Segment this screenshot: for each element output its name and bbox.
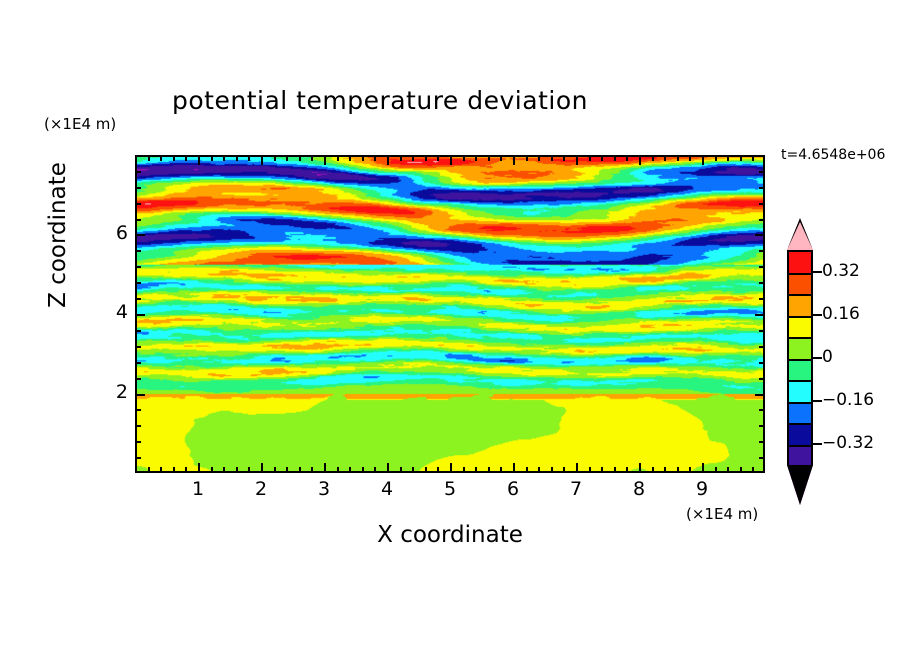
y-minor-tick <box>136 266 141 268</box>
x-minor-tick-top <box>437 156 439 161</box>
colorbar-band <box>789 317 811 339</box>
y-tick-label: 6 <box>94 222 128 244</box>
x-minor-tick <box>400 467 402 472</box>
x-minor-tick-top <box>677 156 679 161</box>
y-minor-tick-right <box>759 171 764 173</box>
y-major-tick <box>136 314 145 316</box>
x-major-tick-top <box>450 156 452 165</box>
y-minor-tick <box>136 250 141 252</box>
x-major-tick-top <box>198 156 200 165</box>
x-minor-tick-top <box>752 156 754 161</box>
colorbar-tick-label: −0.16 <box>822 390 874 410</box>
x-tick-label: 7 <box>556 478 596 500</box>
x-minor-tick <box>715 467 717 472</box>
y-minor-tick <box>136 378 141 380</box>
colorbar-separator <box>789 445 811 447</box>
x-minor-tick-top <box>689 156 691 161</box>
y-minor-tick <box>136 298 141 300</box>
x-minor-tick <box>601 467 603 472</box>
x-minor-tick <box>248 467 250 472</box>
colorbar-separator <box>789 337 811 339</box>
x-major-tick <box>198 463 200 472</box>
x-minor-tick <box>311 467 313 472</box>
x-major-tick <box>324 463 326 472</box>
y-major-tick-right <box>755 314 764 316</box>
x-minor-tick-top <box>374 156 376 161</box>
x-minor-tick <box>488 467 490 472</box>
x-major-tick-top <box>702 156 704 165</box>
y-minor-tick-right <box>759 425 764 427</box>
colorbar-under-cap <box>787 465 813 505</box>
x-minor-tick-top <box>148 156 150 161</box>
colorbar-band <box>789 274 811 296</box>
x-minor-tick-top <box>740 156 742 161</box>
x-minor-tick-top <box>614 156 616 161</box>
colorbar-band <box>789 424 811 446</box>
y-minor-tick-right <box>759 362 764 364</box>
y-major-tick-right <box>755 234 764 236</box>
x-minor-tick <box>374 467 376 472</box>
colorbar-tick-label: −0.32 <box>822 433 874 453</box>
figure-canvas: potential temperature deviation (×1E4 m)… <box>0 0 904 654</box>
colorbar-tick <box>813 400 822 402</box>
x-minor-tick-top <box>664 156 666 161</box>
x-tick-label: 8 <box>619 478 659 500</box>
colorbar-separator <box>789 402 811 404</box>
y-minor-tick <box>136 409 141 411</box>
x-major-tick <box>261 463 263 472</box>
x-minor-tick <box>236 467 238 472</box>
x-minor-tick-top <box>211 156 213 161</box>
y-minor-tick <box>136 187 141 189</box>
x-minor-tick <box>689 467 691 472</box>
x-minor-tick-top <box>538 156 540 161</box>
y-minor-tick <box>136 203 141 205</box>
colorbar-tick <box>813 314 822 316</box>
y-minor-tick-right <box>759 441 764 443</box>
x-minor-tick <box>173 467 175 472</box>
colorbar-separator <box>789 273 811 275</box>
x-minor-tick <box>538 467 540 472</box>
x-minor-tick <box>148 467 150 472</box>
x-minor-tick <box>223 467 225 472</box>
x-minor-tick-top <box>589 156 591 161</box>
y-minor-tick <box>136 282 141 284</box>
colorbar-tick-label: 0.32 <box>822 261 860 281</box>
colorbar-tick-label: 0 <box>822 347 833 367</box>
y-minor-tick-right <box>759 250 764 252</box>
colorbar-band <box>789 338 811 360</box>
x-minor-tick <box>475 467 477 472</box>
colorbar-band <box>789 295 811 317</box>
x-minor-tick <box>626 467 628 472</box>
x-minor-tick <box>425 467 427 472</box>
y-minor-tick-right <box>759 298 764 300</box>
x-axis-title: X coordinate <box>135 522 765 548</box>
scalar-field-render <box>137 157 763 471</box>
x-minor-tick <box>362 467 364 472</box>
x-minor-tick <box>589 467 591 472</box>
x-tick-label: 3 <box>304 478 344 500</box>
x-major-tick-top <box>387 156 389 165</box>
x-major-tick-top <box>261 156 263 165</box>
x-minor-tick-top <box>400 156 402 161</box>
colorbar-band <box>789 381 811 403</box>
x-tick-label: 1 <box>178 478 218 500</box>
y-minor-tick-right <box>759 187 764 189</box>
x-minor-tick-top <box>551 156 553 161</box>
y-major-tick <box>136 234 145 236</box>
x-minor-tick-top <box>526 156 528 161</box>
y-axis-units-label: (×1E4 m) <box>44 115 116 133</box>
x-minor-tick-top <box>299 156 301 161</box>
timestamp-label: t=4.6548e+06 <box>781 147 885 163</box>
y-minor-tick-right <box>759 378 764 380</box>
colorbar-separator <box>789 423 811 425</box>
y-tick-label: 2 <box>94 381 128 403</box>
y-major-tick <box>136 394 145 396</box>
x-minor-tick <box>299 467 301 472</box>
x-tick-label: 5 <box>430 478 470 500</box>
y-minor-tick-right <box>759 203 764 205</box>
x-minor-tick-top <box>500 156 502 161</box>
x-major-tick <box>639 463 641 472</box>
x-tick-label: 4 <box>367 478 407 500</box>
x-minor-tick <box>160 467 162 472</box>
x-minor-tick <box>349 467 351 472</box>
x-minor-tick-top <box>715 156 717 161</box>
x-minor-tick-top <box>488 156 490 161</box>
colorbar-separator <box>789 359 811 361</box>
y-minor-tick <box>136 425 141 427</box>
x-axis-units-label: (×1E4 m) <box>686 505 758 523</box>
colorbar-tick <box>813 357 822 359</box>
x-minor-tick <box>412 467 414 472</box>
colorbar-band <box>789 252 811 274</box>
x-minor-tick <box>677 467 679 472</box>
x-minor-tick-top <box>236 156 238 161</box>
x-major-tick <box>387 463 389 472</box>
x-minor-tick-top <box>601 156 603 161</box>
colorbar-tick <box>813 443 822 445</box>
x-minor-tick <box>551 467 553 472</box>
x-minor-tick-top <box>412 156 414 161</box>
colorbar-band <box>789 360 811 382</box>
x-minor-tick <box>614 467 616 472</box>
x-major-tick-top <box>639 156 641 165</box>
x-major-tick-top <box>324 156 326 165</box>
y-minor-tick <box>136 219 141 221</box>
x-minor-tick-top <box>311 156 313 161</box>
y-major-tick-right <box>755 394 764 396</box>
x-tick-label: 6 <box>493 478 533 500</box>
x-minor-tick <box>286 467 288 472</box>
x-major-tick <box>450 463 452 472</box>
x-minor-tick-top <box>463 156 465 161</box>
x-minor-tick-top <box>274 156 276 161</box>
x-minor-tick <box>437 467 439 472</box>
x-minor-tick <box>664 467 666 472</box>
colorbar-band <box>789 446 811 468</box>
x-minor-tick <box>526 467 528 472</box>
y-minor-tick-right <box>759 409 764 411</box>
x-tick-label: 9 <box>682 478 722 500</box>
x-minor-tick <box>185 467 187 472</box>
x-minor-tick <box>337 467 339 472</box>
x-minor-tick <box>740 467 742 472</box>
x-minor-tick-top <box>223 156 225 161</box>
y-minor-tick <box>136 457 141 459</box>
x-minor-tick-top <box>475 156 477 161</box>
x-major-tick <box>702 463 704 472</box>
x-major-tick <box>513 463 515 472</box>
x-minor-tick <box>727 467 729 472</box>
x-major-tick <box>576 463 578 472</box>
y-minor-tick-right <box>759 282 764 284</box>
colorbar-tick <box>813 271 822 273</box>
colorbar-band <box>789 403 811 425</box>
y-minor-tick-right <box>759 219 764 221</box>
x-minor-tick-top <box>160 156 162 161</box>
x-minor-tick-top <box>248 156 250 161</box>
colorbar-separator <box>789 294 811 296</box>
x-minor-tick-top <box>286 156 288 161</box>
y-minor-tick <box>136 346 141 348</box>
x-minor-tick-top <box>727 156 729 161</box>
y-minor-tick-right <box>759 457 764 459</box>
y-axis-title: Z coordinate <box>45 155 71 315</box>
x-minor-tick <box>752 467 754 472</box>
x-minor-tick-top <box>626 156 628 161</box>
colorbar <box>787 250 813 465</box>
y-minor-tick-right <box>759 330 764 332</box>
y-minor-tick-right <box>759 346 764 348</box>
x-tick-label: 2 <box>241 478 281 500</box>
x-minor-tick-top <box>349 156 351 161</box>
x-minor-tick-top <box>652 156 654 161</box>
chart-title: potential temperature deviation <box>0 86 760 115</box>
colorbar-tick-label: 0.16 <box>822 304 860 324</box>
x-minor-tick <box>563 467 565 472</box>
x-minor-tick-top <box>173 156 175 161</box>
x-minor-tick-top <box>362 156 364 161</box>
x-minor-tick-top <box>337 156 339 161</box>
y-minor-tick-right <box>759 266 764 268</box>
x-minor-tick <box>463 467 465 472</box>
y-minor-tick <box>136 171 141 173</box>
x-minor-tick-top <box>563 156 565 161</box>
colorbar-over-cap <box>787 218 813 250</box>
x-minor-tick <box>211 467 213 472</box>
y-minor-tick <box>136 330 141 332</box>
y-minor-tick <box>136 362 141 364</box>
x-minor-tick <box>274 467 276 472</box>
x-minor-tick-top <box>425 156 427 161</box>
colorbar-separator <box>789 316 811 318</box>
y-minor-tick <box>136 441 141 443</box>
x-minor-tick <box>500 467 502 472</box>
y-tick-label: 4 <box>94 301 128 323</box>
contour-plot-area <box>135 155 765 473</box>
x-major-tick-top <box>513 156 515 165</box>
x-minor-tick <box>652 467 654 472</box>
x-minor-tick-top <box>185 156 187 161</box>
x-major-tick-top <box>576 156 578 165</box>
colorbar-separator <box>789 380 811 382</box>
